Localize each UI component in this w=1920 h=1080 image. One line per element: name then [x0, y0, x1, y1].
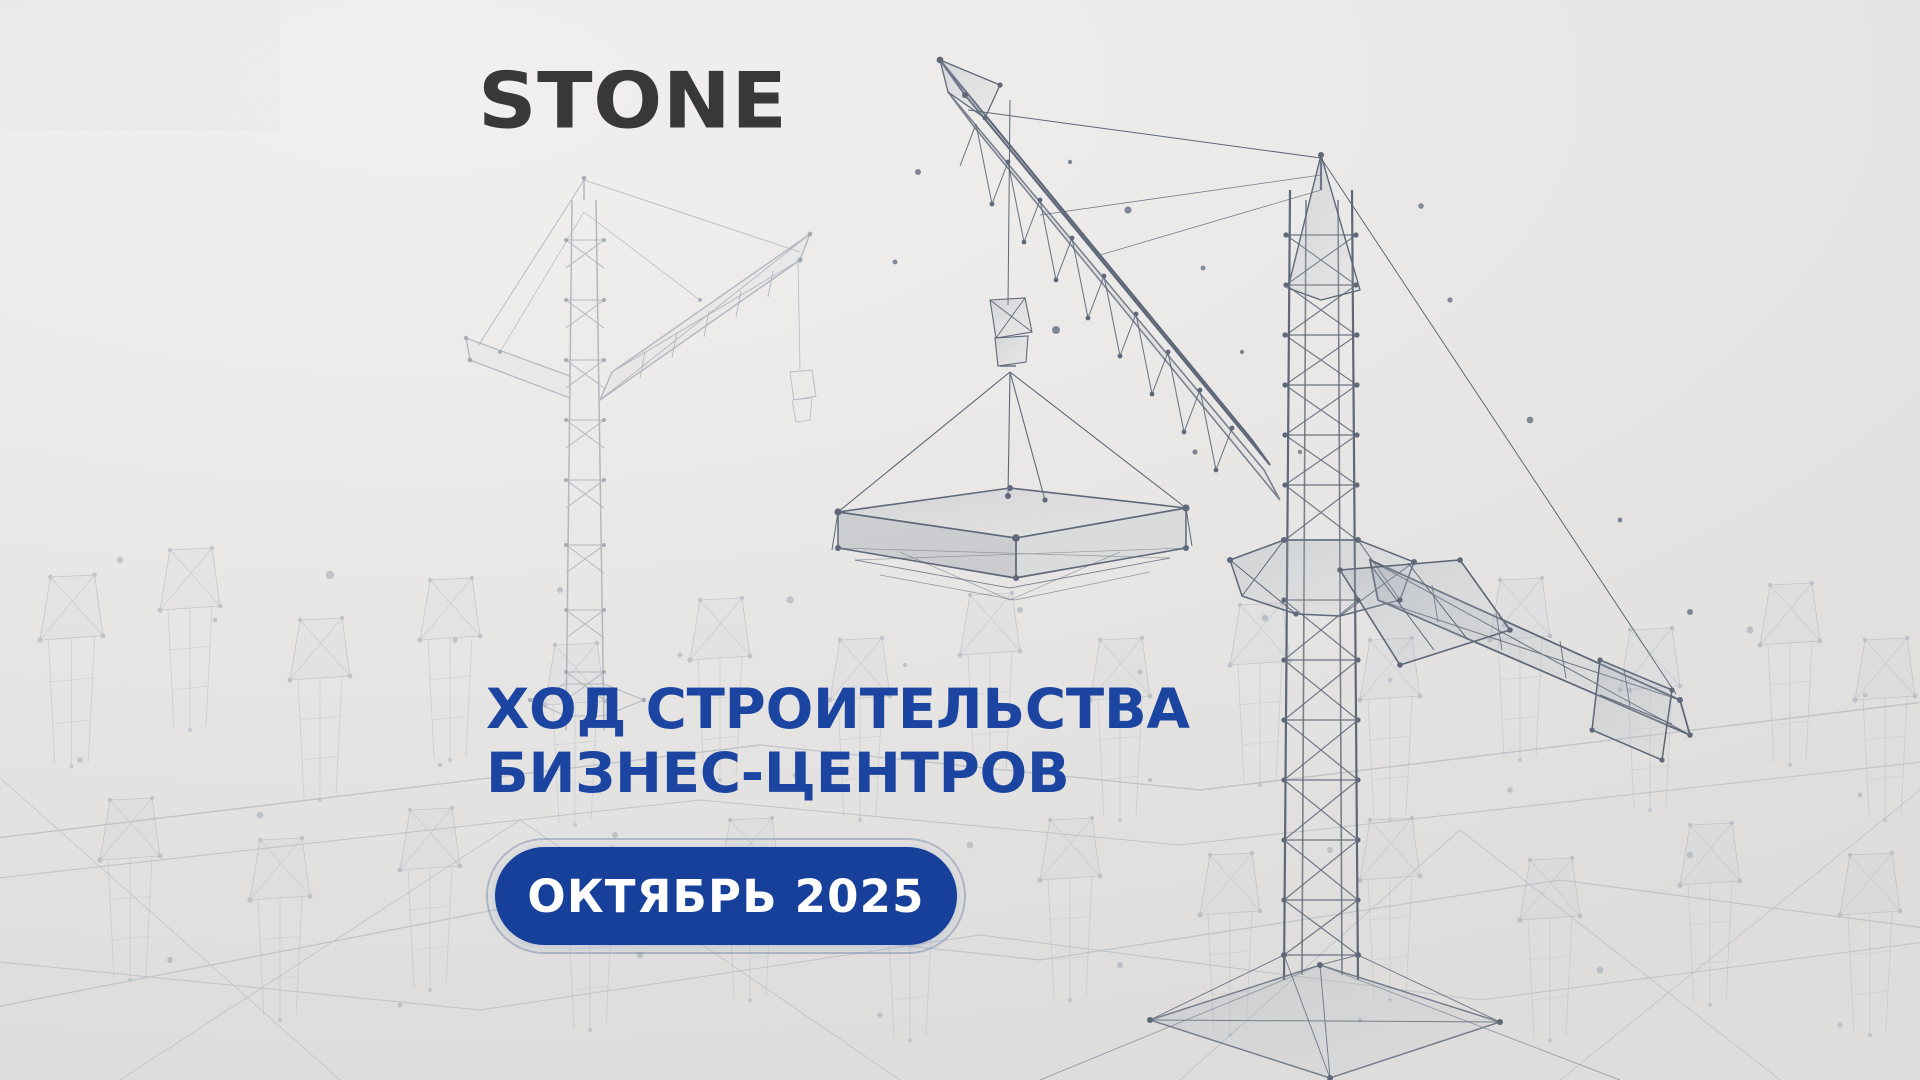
- headline-line-1: ХОД СТРОИТЕЛЬСТВА: [486, 677, 1190, 741]
- poster-canvas: STONE ХОД СТРОИТЕЛЬСТВА БИЗНЕС-ЦЕНТРОВ О…: [0, 0, 1920, 1080]
- date-badge[interactable]: ОКТЯБРЬ 2025: [495, 847, 957, 945]
- stone-logo: STONE: [478, 62, 787, 140]
- page-title: ХОД СТРОИТЕЛЬСТВА БИЗНЕС-ЦЕНТРОВ: [486, 678, 1190, 806]
- headline-line-2: БИЗНЕС-ЦЕНТРОВ: [486, 742, 1190, 806]
- date-badge-group: ОКТЯБРЬ 2025: [486, 838, 966, 954]
